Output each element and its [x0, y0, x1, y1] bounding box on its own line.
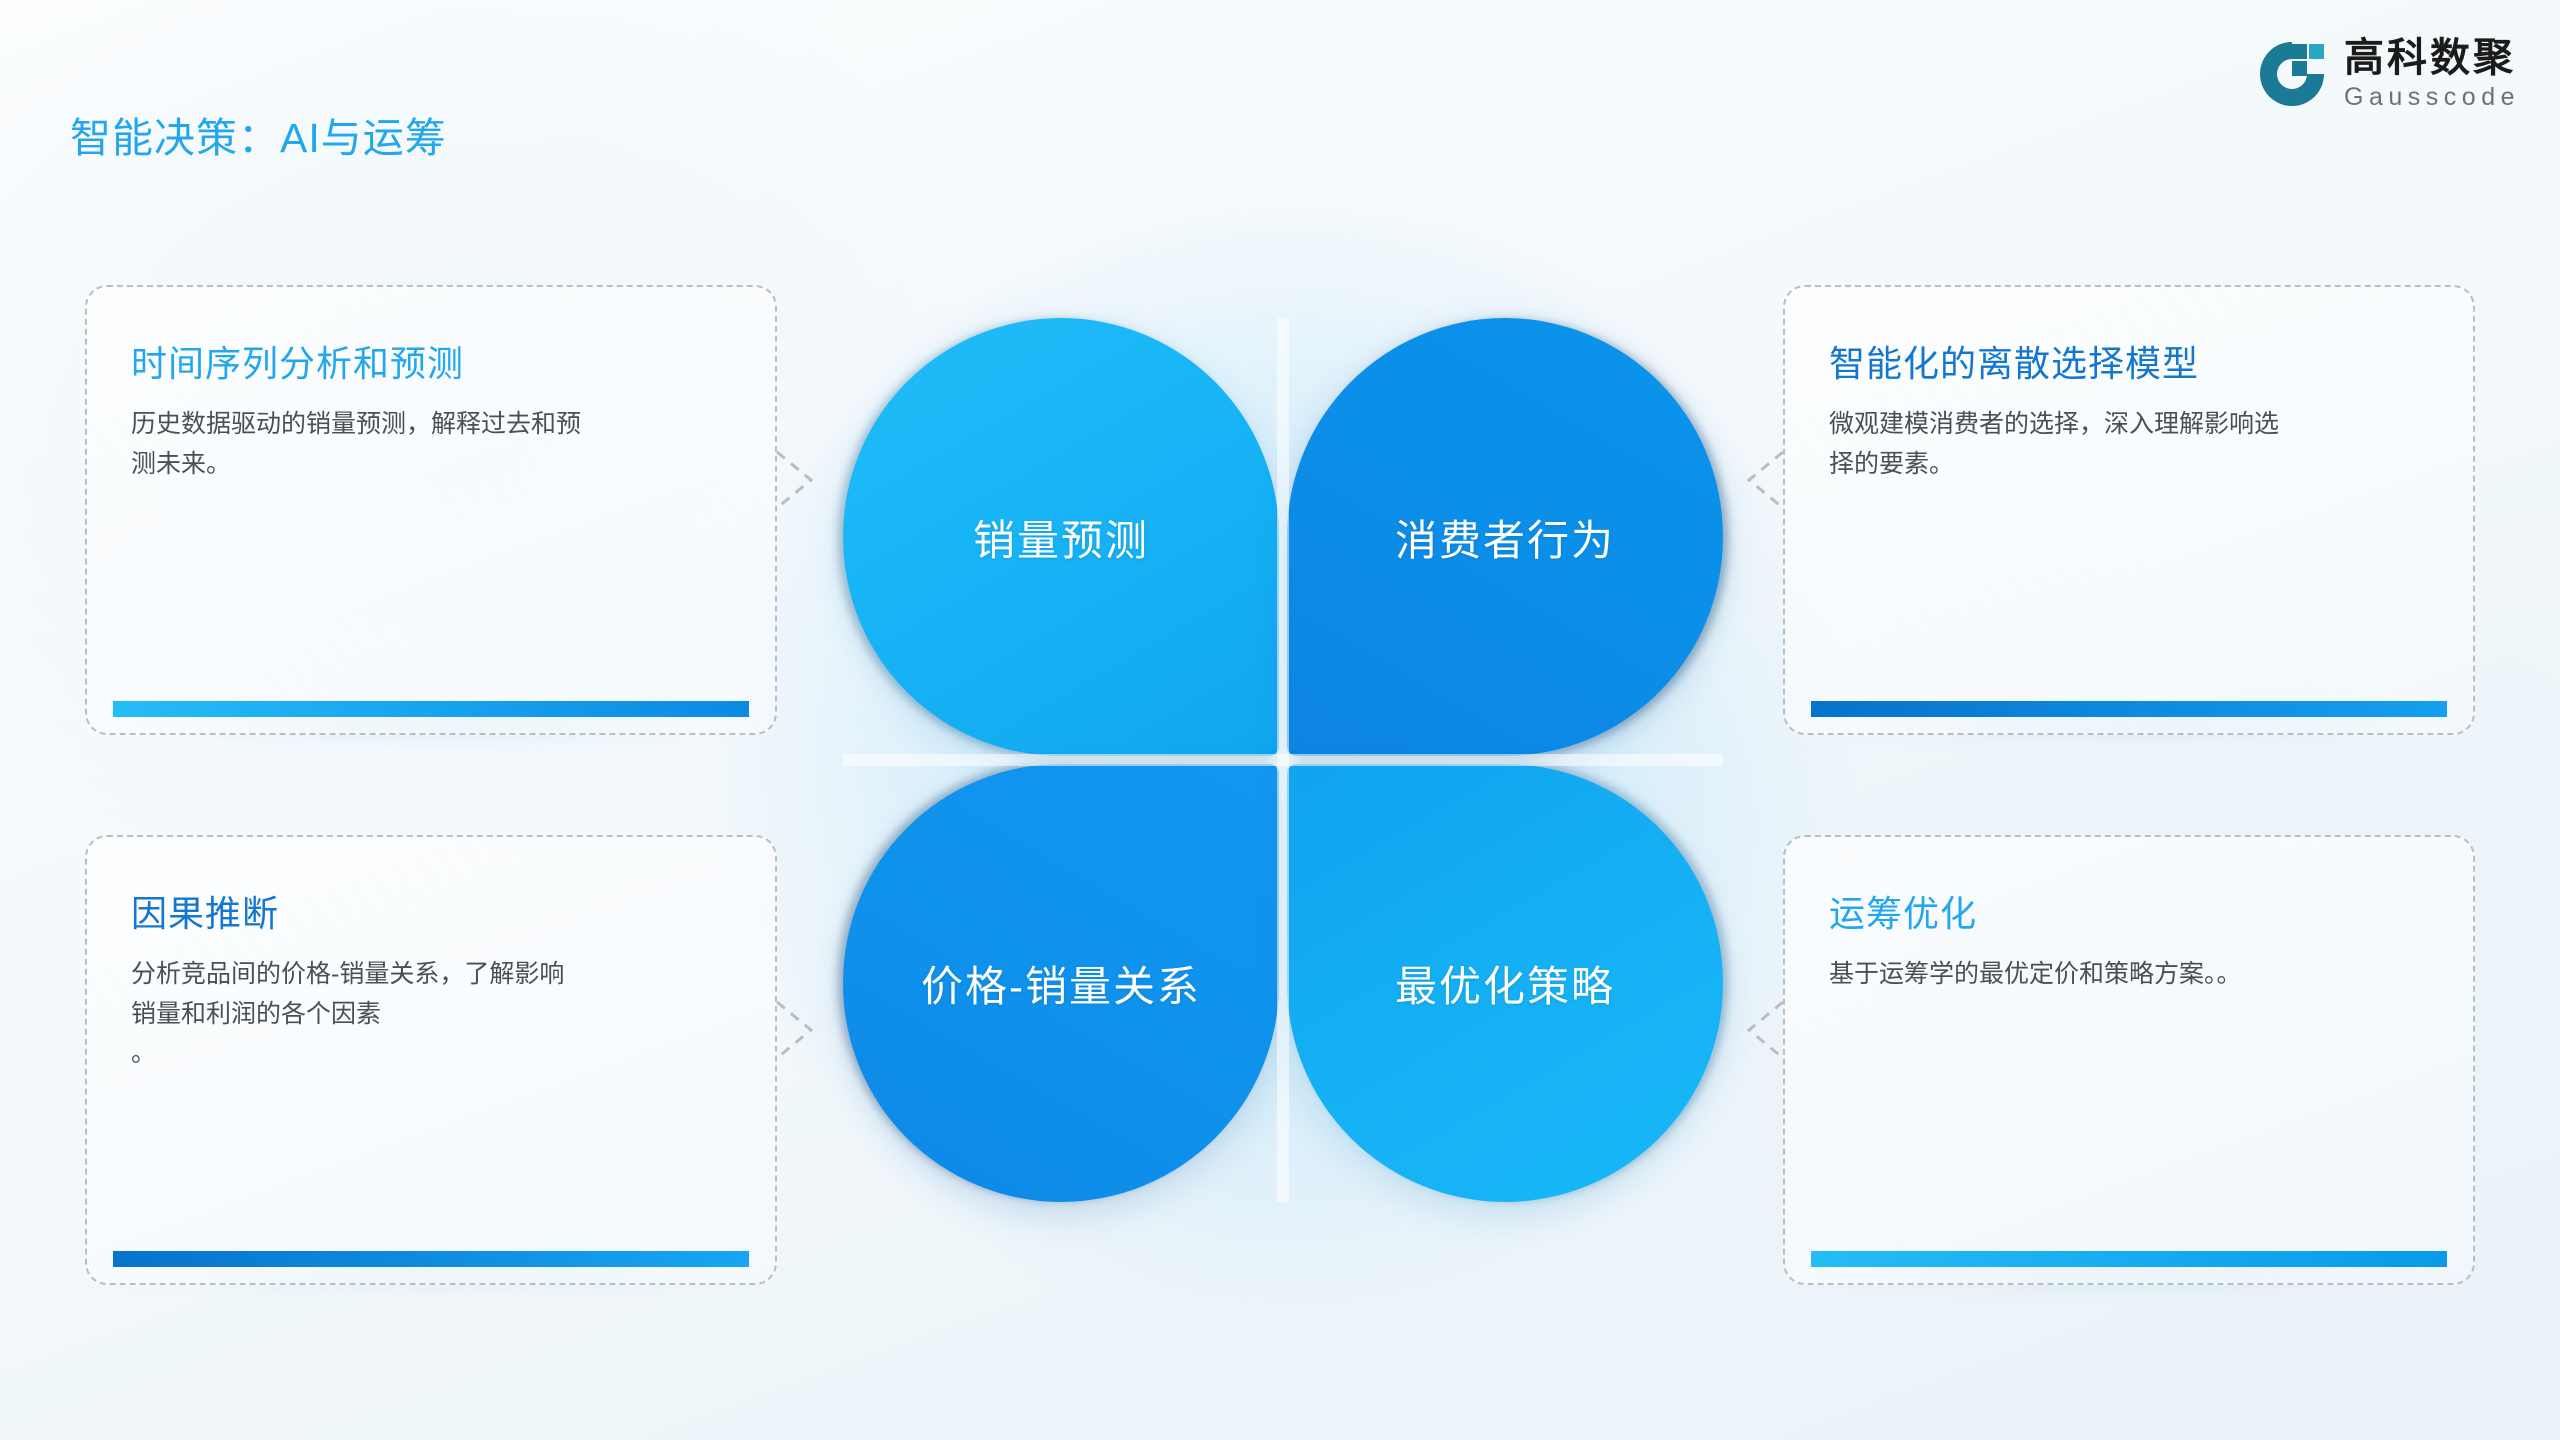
- petal-consumer-behavior[interactable]: 消费者行为: [1287, 318, 1723, 756]
- page-title: 智能决策：AI与运筹: [70, 104, 447, 164]
- connector-chevron-icon: [775, 450, 817, 510]
- card-title: 运筹优化: [1829, 885, 2429, 937]
- connector-chevron-icon: [775, 1000, 817, 1060]
- card-discrete-choice[interactable]: 智能化的离散选择模型 微观建模消费者的选择，深入理解影响选 择的要素。: [1783, 285, 2475, 735]
- connector-chevron-icon: [1743, 1000, 1785, 1060]
- petal-label: 消费者行为: [1395, 507, 1615, 568]
- slide-root: 智能决策：AI与运筹 高科数聚 Gausscode 销量预测 消费者行为 价格-…: [0, 0, 2560, 1440]
- card-accent-bar: [113, 1251, 749, 1267]
- card-description: 微观建模消费者的选择，深入理解影响选 择的要素。: [1829, 405, 2429, 484]
- card-title: 智能化的离散选择模型: [1829, 335, 2429, 387]
- petal-sales-forecast[interactable]: 销量预测: [843, 318, 1279, 756]
- petal-label: 价格-销量关系: [921, 953, 1201, 1014]
- flower-diagram: 销量预测 消费者行为 价格-销量关系 最优化策略: [843, 318, 1723, 1202]
- logo-wordmark: 高科数聚 Gausscode: [2344, 38, 2520, 110]
- card-title: 时间序列分析和预测: [131, 335, 731, 387]
- petal-label: 最优化策略: [1395, 953, 1615, 1014]
- flower-glow: [733, 208, 1833, 1312]
- card-description: 基于运筹学的最优定价和策略方案。。: [1829, 955, 2429, 995]
- card-accent-bar: [1811, 701, 2447, 717]
- card-description: 分析竞品间的价格-销量关系，了解影响 销量和利润的各个因素 。: [131, 955, 731, 1074]
- petal-label: 销量预测: [973, 507, 1149, 568]
- connector-chevron-icon: [1743, 450, 1785, 510]
- card-description: 历史数据驱动的销量预测，解释过去和预 测未来。: [131, 405, 731, 484]
- card-time-series[interactable]: 时间序列分析和预测 历史数据驱动的销量预测，解释过去和预 测未来。: [85, 285, 777, 735]
- petal-price-sales[interactable]: 价格-销量关系: [843, 764, 1279, 1202]
- brand-logo: 高科数聚 Gausscode: [2256, 38, 2520, 110]
- card-operations-optimization[interactable]: 运筹优化 基于运筹学的最优定价和策略方案。。: [1783, 835, 2475, 1285]
- logo-name-en: Gausscode: [2344, 85, 2520, 110]
- card-accent-bar: [1811, 1251, 2447, 1267]
- logo-name-cn: 高科数聚: [2344, 38, 2520, 78]
- petal-seam-horizontal: [843, 754, 1723, 766]
- card-title: 因果推断: [131, 885, 731, 937]
- gausscode-logo-icon: [2256, 38, 2328, 110]
- petal-seam-vertical: [1277, 318, 1289, 1202]
- card-accent-bar: [113, 701, 749, 717]
- petal-optimal-strategy[interactable]: 最优化策略: [1287, 764, 1723, 1202]
- card-causal-inference[interactable]: 因果推断 分析竞品间的价格-销量关系，了解影响 销量和利润的各个因素 。: [85, 835, 777, 1285]
